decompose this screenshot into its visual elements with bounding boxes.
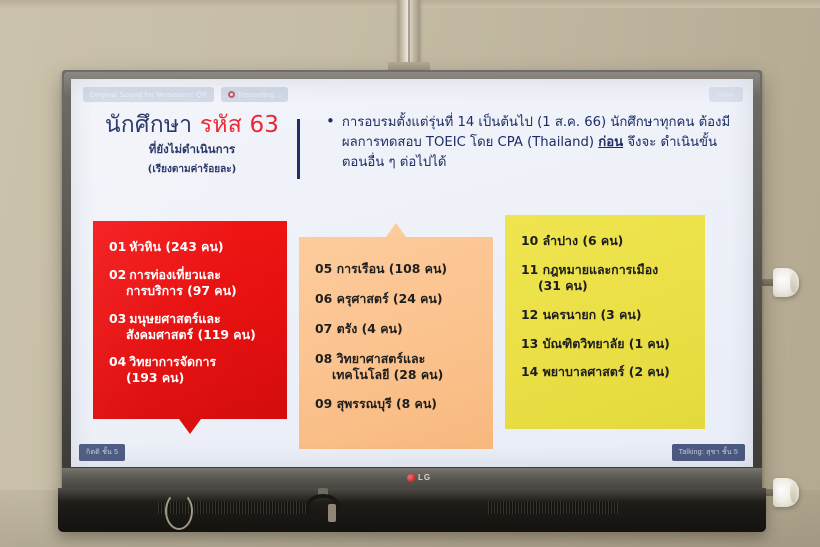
original-sound-label: Original Sound for Musicians: Off <box>90 90 207 99</box>
item-text: การเรือน (108 คน) <box>337 261 448 276</box>
item-number: 13 <box>521 336 538 351</box>
item-number: 05 <box>315 261 332 276</box>
view-button-label: View <box>718 90 734 99</box>
item-number: 03 <box>109 311 126 326</box>
list-item: 08 วิทยาศาสตร์และ เทคโนโลยี (28 คน) <box>315 351 481 383</box>
wall-speaker-cone <box>773 268 799 297</box>
lg-logo: LG <box>407 470 447 485</box>
record-icon <box>228 91 235 98</box>
item-number: 01 <box>109 239 126 254</box>
list-item: 05 การเรือน (108 คน) <box>315 261 481 277</box>
bullet-line-2b: จึงจะ <box>623 135 656 150</box>
item-number: 07 <box>315 321 332 336</box>
slide-header: นักศึกษา รหัส 63 ที่ยังไม่ดำเนินการ (เรี… <box>71 113 753 205</box>
item-number: 14 <box>521 364 538 379</box>
cable-bundle <box>300 492 352 522</box>
lg-logo-mark <box>407 474 415 482</box>
title-subtitle-2: (เรียงตามค่าร้อยละ) <box>93 162 291 177</box>
item-text: บัณฑิตวิทยาลัย (1 คน) <box>543 336 670 351</box>
item-text-line2: (31 คน) <box>521 278 695 294</box>
list-item: 10 ลำปาง (6 คน) <box>521 233 695 249</box>
column-yellow: 10 ลำปาง (6 คน) 11 กฎหมายและการเมือง (31… <box>505 215 705 429</box>
list-item: 07 ตรัง (4 คน) <box>315 321 481 337</box>
speaker-grille-right <box>488 502 618 514</box>
active-speaker-nametag: Talking: สุชา ชั้น 5 <box>672 444 745 461</box>
list-item: 04วิทยาการจัดการ (193 คน) <box>109 354 275 386</box>
item-number: 02 <box>109 267 126 282</box>
participant-nametag-left: กิตติ ชั้น 5 <box>79 444 125 461</box>
list-item: 13 บัณฑิตวิทยาลัย (1 คน) <box>521 336 695 352</box>
item-number: 12 <box>521 307 538 322</box>
item-text: ลำปาง (6 คน) <box>543 233 624 248</box>
item-number: 08 <box>315 351 332 366</box>
item-number: 11 <box>521 262 538 277</box>
item-text: กฎหมายและการเมือง <box>543 262 659 277</box>
item-text: การท่องเที่ยวและ <box>129 267 221 282</box>
item-text: วิทยาศาสตร์และ <box>337 351 426 366</box>
bullet-marker: • <box>326 114 335 173</box>
item-text-line2: เทคโนโลยี (28 คน) <box>315 367 481 383</box>
item-text-line2: สังคมศาสตร์ (119 คน) <box>109 327 275 343</box>
item-number: 09 <box>315 396 332 411</box>
item-text: นครนายก (3 คน) <box>543 307 642 322</box>
list-item: 09 สุพรรณบุรี (8 คน) <box>315 396 481 412</box>
cable-loop <box>165 492 193 530</box>
list-item: 03มนุษยศาสตร์และ สังคมศาสตร์ (119 คน) <box>109 311 275 343</box>
room-scene: Original Sound for Musicians: Off Record… <box>0 0 820 547</box>
list-item: 11 กฎหมายและการเมือง (31 คน) <box>521 262 695 294</box>
column-red-arrow <box>179 419 201 434</box>
list-item: 14 พยาบาลศาสตร์ (2 คน) <box>521 364 695 380</box>
slide-bullet-block: • การอบรมตั้งแต่รุ่นที่ 14 เป็นต้นไป (1 … <box>300 113 753 173</box>
lg-television: Original Sound for Musicians: Off Record… <box>62 70 762 490</box>
faculty-columns: 01หัวหิน (243 คน) 02การท่องเที่ยวและ การ… <box>71 215 753 467</box>
bullet-paragraph: การอบรมตั้งแต่รุ่นที่ 14 เป็นต้นไป (1 ส.… <box>342 113 739 173</box>
column-red: 01หัวหิน (243 คน) 02การท่องเที่ยวและ การ… <box>93 221 287 419</box>
item-text: ครุศาสตร์ (24 คน) <box>337 291 443 306</box>
title-subtitle-1: ที่ยังไม่ดำเนินการ <box>93 141 291 159</box>
list-item: 12 นครนายก (3 คน) <box>521 307 695 323</box>
item-text-line2: การบริการ (97 คน) <box>109 283 275 299</box>
slide-title-block: นักศึกษา รหัส 63 ที่ยังไม่ดำเนินการ (เรี… <box>71 113 291 177</box>
presentation-slide: Original Sound for Musicians: Off Record… <box>71 79 753 467</box>
title-highlight-text: รหัส 63 <box>200 112 279 138</box>
item-number: 10 <box>521 233 538 248</box>
column-peach-arrow <box>386 223 406 237</box>
item-number: 06 <box>315 291 332 306</box>
list-item: 02การท่องเที่ยวและ การบริการ (97 คน) <box>109 267 275 299</box>
recording-chip[interactable]: Recording... <box>221 87 289 102</box>
item-text: สุพรรณบุรี (8 คน) <box>337 396 437 411</box>
lg-logo-text: LG <box>418 473 431 482</box>
item-text: ตรัง (4 คน) <box>337 321 403 336</box>
bullet-line-1: การอบรมตั้งแต่รุ่นที่ 14 เป็นต้นไป (1 ส.… <box>342 115 695 130</box>
original-sound-chip[interactable]: Original Sound for Musicians: Off <box>83 87 214 102</box>
item-text: หัวหิน (243 คน) <box>129 239 223 254</box>
list-item: 01หัวหิน (243 คน) <box>109 239 275 255</box>
column-peach: 05 การเรือน (108 คน) 06 ครุศาสตร์ (24 คน… <box>299 237 493 449</box>
tv-display-panel: Original Sound for Musicians: Off Record… <box>71 79 753 467</box>
item-text: พยาบาลศาสตร์ (2 คน) <box>543 364 670 379</box>
page-title: นักศึกษา รหัส 63 <box>93 113 291 139</box>
zoom-status-chips: Original Sound for Musicians: Off Record… <box>83 87 288 102</box>
list-item: 06 ครุศาสตร์ (24 คน) <box>315 291 481 307</box>
view-button[interactable]: View <box>709 87 743 102</box>
item-text: วิทยาการจัดการ <box>129 354 216 369</box>
recording-label: Recording... <box>239 90 282 99</box>
title-main-text: นักศึกษา <box>105 112 200 138</box>
item-number: 04 <box>109 354 126 369</box>
item-text: มนุษยศาสตร์และ <box>129 311 220 326</box>
under-shelf-gloss <box>58 488 766 502</box>
bullet-emphasis: ก่อน <box>598 135 623 150</box>
wall-speaker-cone <box>773 478 799 507</box>
item-text-line2: (193 คน) <box>109 370 275 386</box>
